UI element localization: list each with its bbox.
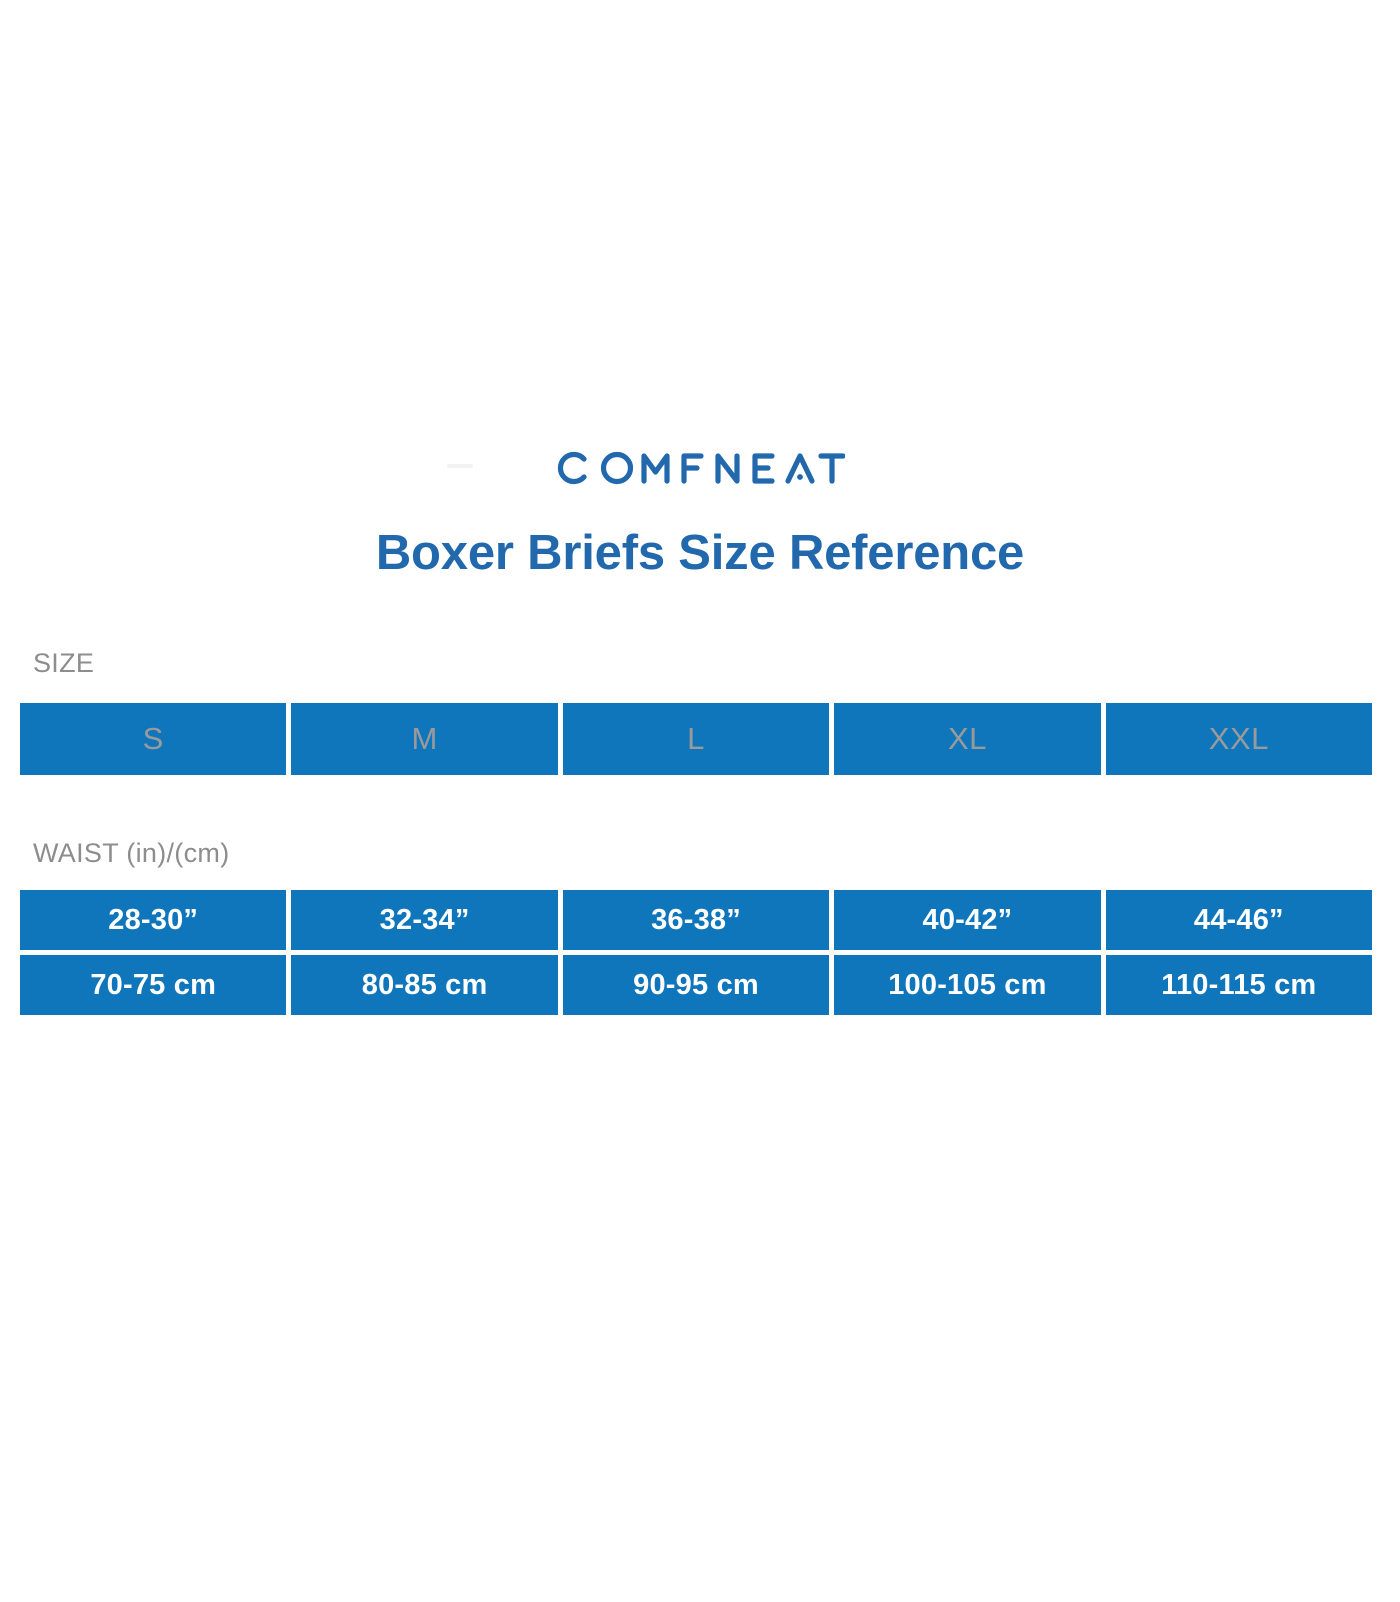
waist-in-cell-m: 32-34” (291, 890, 557, 950)
size-header-row: S M L XL XXL (20, 703, 1372, 775)
waist-in-cell-l: 36-38” (563, 890, 829, 950)
size-cell-l[interactable]: L (563, 703, 829, 775)
waist-table: 28-30” 32-34” 36-38” 40-42” 44-46” 70-75… (20, 890, 1372, 1015)
brand-logo-row (0, 440, 1400, 496)
waist-in-cell-xl: 40-42” (834, 890, 1100, 950)
waist-cm-cell-l: 90-95 cm (563, 955, 829, 1015)
waist-in-cell-s: 28-30” (20, 890, 286, 950)
size-cell-s[interactable]: S (20, 703, 286, 775)
size-cell-xxl[interactable]: XXL (1106, 703, 1372, 775)
smudge-artifact (447, 464, 473, 468)
waist-in-cell-xxl: 44-46” (1106, 890, 1372, 950)
waist-cm-cell-m: 80-85 cm (291, 955, 557, 1015)
waist-section-caption: WAIST (in)/(cm) (33, 838, 229, 869)
waist-cm-cell-xl: 100-105 cm (834, 955, 1100, 1015)
waist-cm-row: 70-75 cm 80-85 cm 90-95 cm 100-105 cm 11… (20, 955, 1372, 1015)
logo-a-dot (797, 474, 803, 480)
waist-cm-cell-xxl: 110-115 cm (1106, 955, 1372, 1015)
comfneat-logo (555, 450, 845, 486)
size-chart-sheet: Boxer Briefs Size Reference SIZE S M L X… (0, 0, 1400, 1602)
size-table: S M L XL XXL (20, 703, 1372, 775)
waist-cm-cell-s: 70-75 cm (20, 955, 286, 1015)
page-title: Boxer Briefs Size Reference (0, 527, 1400, 581)
size-cell-xl[interactable]: XL (834, 703, 1100, 775)
size-section-caption: SIZE (33, 648, 94, 679)
waist-inches-row: 28-30” 32-34” 36-38” 40-42” 44-46” (20, 890, 1372, 950)
size-cell-m[interactable]: M (291, 703, 557, 775)
